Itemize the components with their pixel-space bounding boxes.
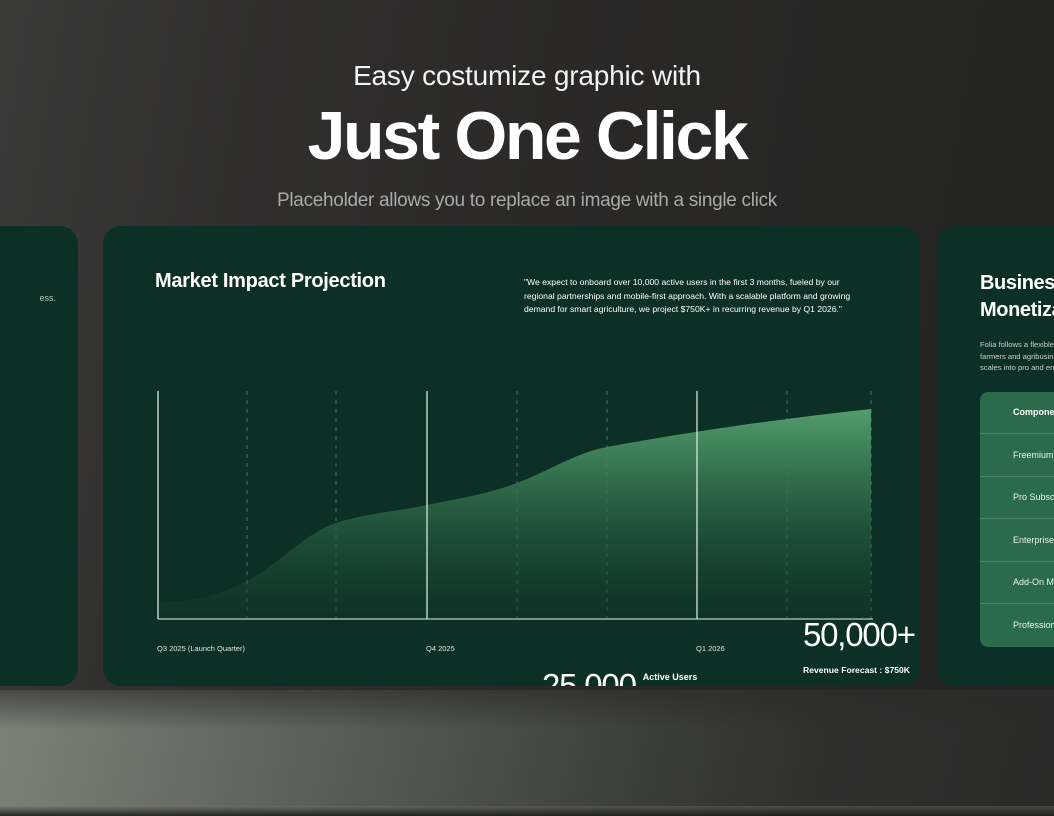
card-header: Market Impact Projection "We expect to o… [155,268,870,317]
bottom-gradient-fade [0,690,1054,730]
card-previous-text: ess. [0,292,56,305]
table-row[interactable]: Pro Subscription [980,477,1054,520]
hero-kicker: Easy costumize graphic with [0,58,1054,94]
hero-header: Easy costumize graphic with Just One Cli… [0,0,1054,214]
chart-area-path [158,409,871,619]
area-chart [155,391,873,643]
monetization-table: Component Freemium Tier Pro Subscription… [980,392,1054,647]
card-market-impact-projection[interactable]: Market Impact Projection "We expect to o… [103,226,920,686]
x-tick-q1-2026: Q1 2026 [696,643,725,654]
x-tick-q4-2025: Q4 2025 [426,643,455,654]
right-card-description: Folia follows a flexible monetization mo… [980,339,1054,374]
callout-value: 25,000 [542,668,636,686]
callout-unit: Active Users [643,671,698,683]
hero-title: Just One Click [0,96,1054,176]
card-previous[interactable]: ess. [0,226,78,686]
right-card-title-line2: Monetization [980,297,1054,324]
table-row[interactable]: Enterprise Plan [980,519,1054,562]
x-tick-q3-2025: Q3 2025 (Launch Quarter) [157,643,245,654]
table-row[interactable]: Professional Services [980,604,1054,647]
card-title: Market Impact Projection [155,268,455,294]
callout-value: 50,000+ [803,617,915,653]
callout-q1-2026: 50,000+ Active Users Revenue Forecast : … [803,617,920,686]
callout-q4-2025: 25,000 Active Users Revenue Forecast : $… [542,668,697,686]
hero-subtitle: Placeholder allows you to replace an ima… [0,188,1054,214]
card-quote: "We expect to onboard over 10,000 active… [524,268,870,317]
table-header-component: Component [980,392,1054,435]
right-card-title-line1: Business [980,270,1054,297]
table-row[interactable]: Freemium Tier [980,434,1054,477]
bottom-edge-highlight [0,806,1054,816]
callout-revenue: Revenue Forecast : $750K [803,664,920,676]
chart-x-axis: Q3 2025 (Launch Quarter) Q4 2025 Q1 2026 [155,643,873,663]
card-carousel: ess. Market Impact Projection "We expect… [0,226,1054,688]
table-row[interactable]: Add-On Modules [980,562,1054,605]
card-business-monetization[interactable]: Business Monetization Folia follows a fl… [937,226,1054,686]
